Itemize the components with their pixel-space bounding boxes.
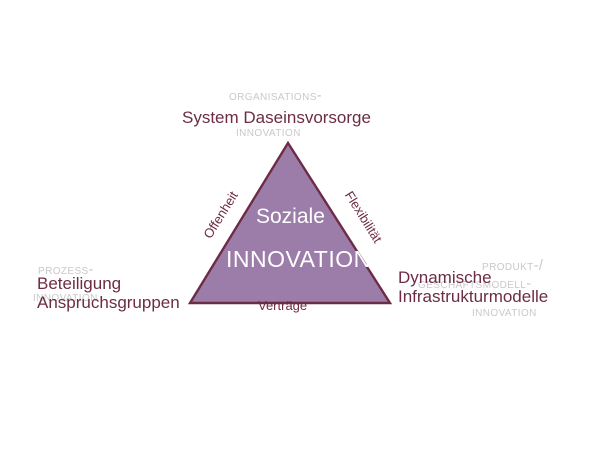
corner-label-right: Dynamische Infrastrukturmodelle [398,268,548,306]
corner-label-left-line2: Anspruchsgruppen [37,293,180,312]
edge-label-vertraege: Verträge [258,299,307,314]
inside-label-soziale: Soziale [256,205,325,229]
ghost-label-organisations: Organisations- [229,88,322,104]
corner-label-right-line1: Dynamische [398,268,548,287]
corner-label-right-line2: Infrastrukturmodelle [398,287,548,306]
corner-label-top: System Daseinsvorsorge [182,108,371,127]
ghost-label-innovation-right: Innovation [472,304,537,320]
corner-label-left-line1: Beteiligung [37,274,180,293]
inside-label-innovation: INNOVATION [226,247,371,273]
diagram-canvas: Organisations- Innovation System Daseins… [0,0,600,450]
corner-label-left: Beteiligung Anspruchsgruppen [37,274,180,312]
